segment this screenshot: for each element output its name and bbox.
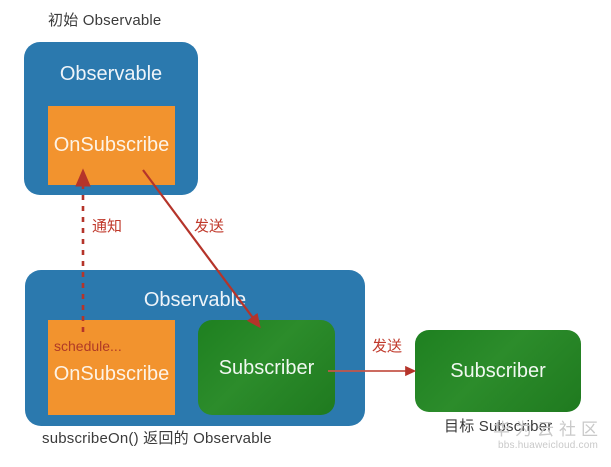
diagram-canvas: 初始 Observable Observable OnSubscribe Obs… xyxy=(0,0,611,467)
target-subscriber-box: Subscriber xyxy=(415,330,581,412)
watermark-url: bbs.huaweicloud.com xyxy=(488,440,608,452)
notify-arrow-label: 通知 xyxy=(92,218,122,236)
result-observable-box: Observable schedule... OnSubscribe Subsc… xyxy=(25,270,365,426)
source-observable-box: Observable OnSubscribe xyxy=(24,42,198,195)
target-subscriber-label: Subscriber xyxy=(415,359,581,383)
source-onsubscribe-label: OnSubscribe xyxy=(48,133,175,157)
result-onsubscribe-box: schedule... OnSubscribe xyxy=(48,320,175,415)
caption-initial-observable: 初始 Observable xyxy=(48,12,161,30)
caption-target-subscriber: 目标 Subscriber xyxy=(444,418,552,436)
send-to-inner-subscriber-label: 发送 xyxy=(194,218,224,236)
source-onsubscribe-box: OnSubscribe xyxy=(48,106,175,185)
inner-subscriber-box: Subscriber xyxy=(198,320,335,415)
result-onsubscribe-label: OnSubscribe xyxy=(48,362,175,386)
send-to-target-subscriber-label: 发送 xyxy=(372,338,402,356)
inner-subscriber-label: Subscriber xyxy=(198,356,335,380)
source-observable-label: Observable xyxy=(24,62,198,86)
schedule-note: schedule... xyxy=(54,338,122,354)
result-observable-label: Observable xyxy=(25,288,365,312)
caption-subscribeon-observable: subscribeOn() 返回的 Observable xyxy=(42,430,272,448)
